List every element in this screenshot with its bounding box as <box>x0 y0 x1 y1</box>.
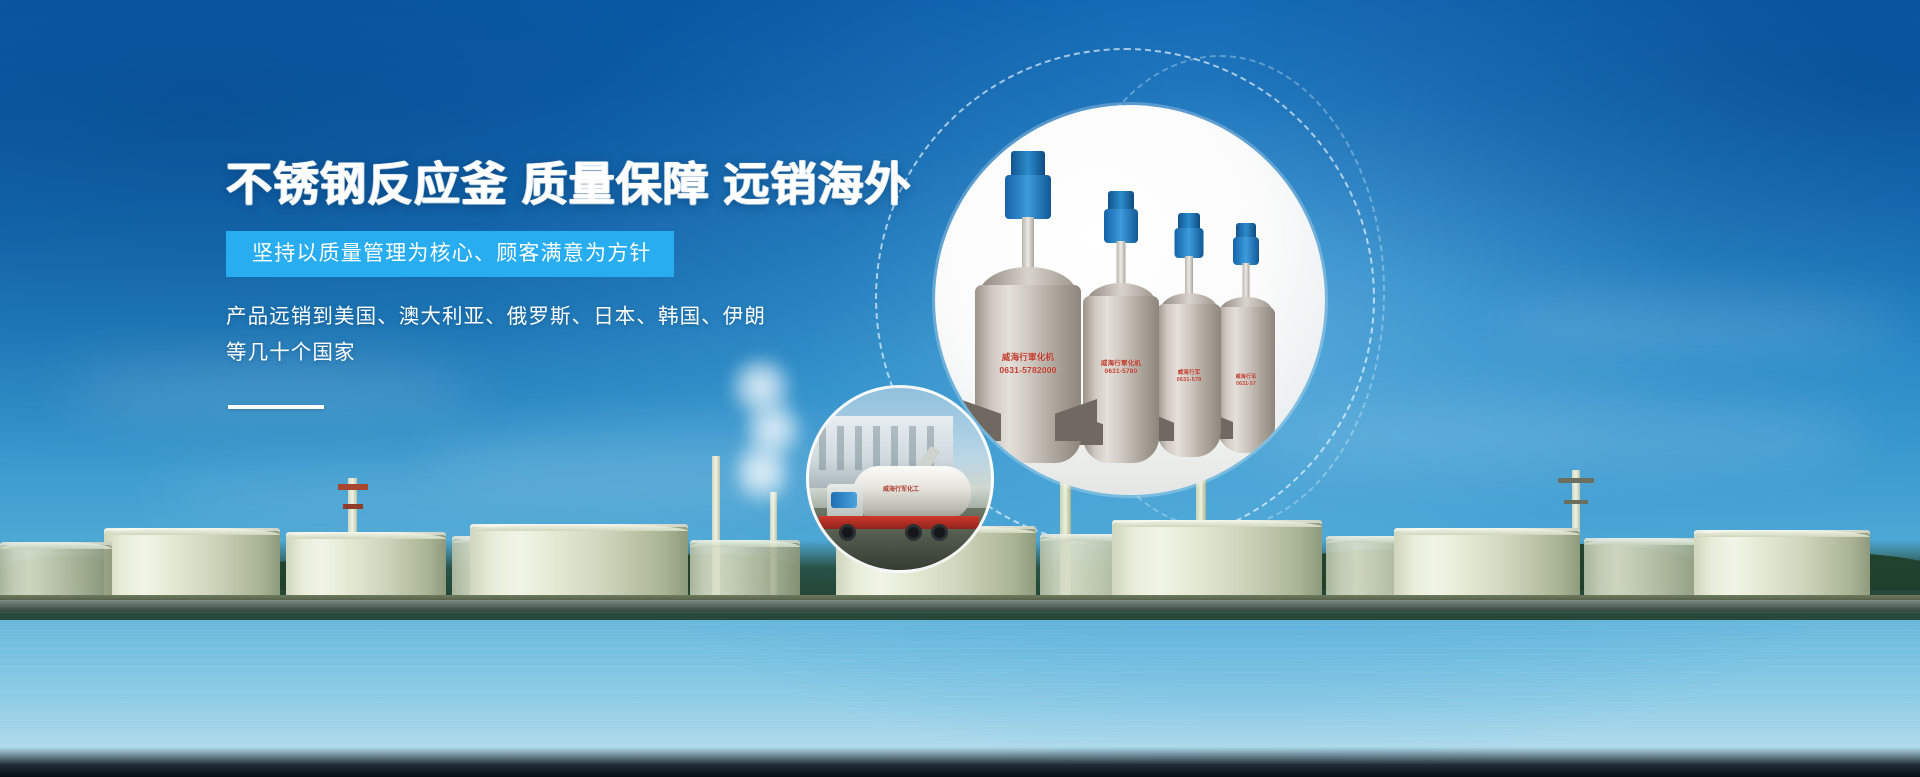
reactor-label-1: 威海行軍化机 <box>1002 351 1054 363</box>
tagline-badge: 坚持以质量管理为核心、顾客满意为方针 <box>226 231 674 277</box>
reactor-phone-3: 0631-578 <box>1177 377 1202 383</box>
reactor-vessel: 威海行军 0631-57 <box>1217 223 1275 453</box>
divider-rule <box>228 405 324 409</box>
reactor-label-4: 威海行军 <box>1236 373 1257 380</box>
reactor-label-2: 威海行軍化机 <box>1101 357 1141 367</box>
reactor-phone-1: 0631-5782000 <box>999 365 1056 375</box>
truck-wheel <box>839 524 856 541</box>
reactor-phone-4: 0631-57 <box>1236 381 1256 387</box>
description-line-1: 产品远销到美国、澳大利亚、俄罗斯、日本、韩国、伊朗 <box>226 299 926 335</box>
truck-wheel <box>905 524 922 541</box>
hero-banner: 威海行军 0631-57 威海行军 0631-578 威海行軍化机 0631-5… <box>0 0 1920 777</box>
banner-copy: 不锈钢反应釜 质量保障 远销海外 坚持以质量管理为核心、顾客满意为方针 产品远销… <box>226 160 926 409</box>
tank-body <box>853 466 971 520</box>
page-title: 不锈钢反应釜 质量保障 远销海外 <box>226 160 926 209</box>
product-showcase-circle[interactable]: 威海行军 0631-57 威海行军 0631-578 威海行軍化机 0631-5… <box>935 105 1325 495</box>
vehicle-label: 威海行军化工 <box>883 484 919 493</box>
reactor-label-3: 威海行军 <box>1178 368 1201 376</box>
mobile-tank-photo-circle[interactable]: 威海行军化工 <box>806 385 994 573</box>
reactor-phone-2: 0631-5780 <box>1105 368 1138 375</box>
truck-wheel <box>931 524 948 541</box>
reactor-vessel-primary: 威海行軍化机 0631-5782000 <box>975 151 1081 463</box>
description-line-2: 等几十个国家 <box>226 335 926 371</box>
drive-motor <box>831 492 857 508</box>
bottom-shadow-band <box>0 747 1920 777</box>
reactor-vessel: 威海行军 0631-578 <box>1157 213 1221 457</box>
